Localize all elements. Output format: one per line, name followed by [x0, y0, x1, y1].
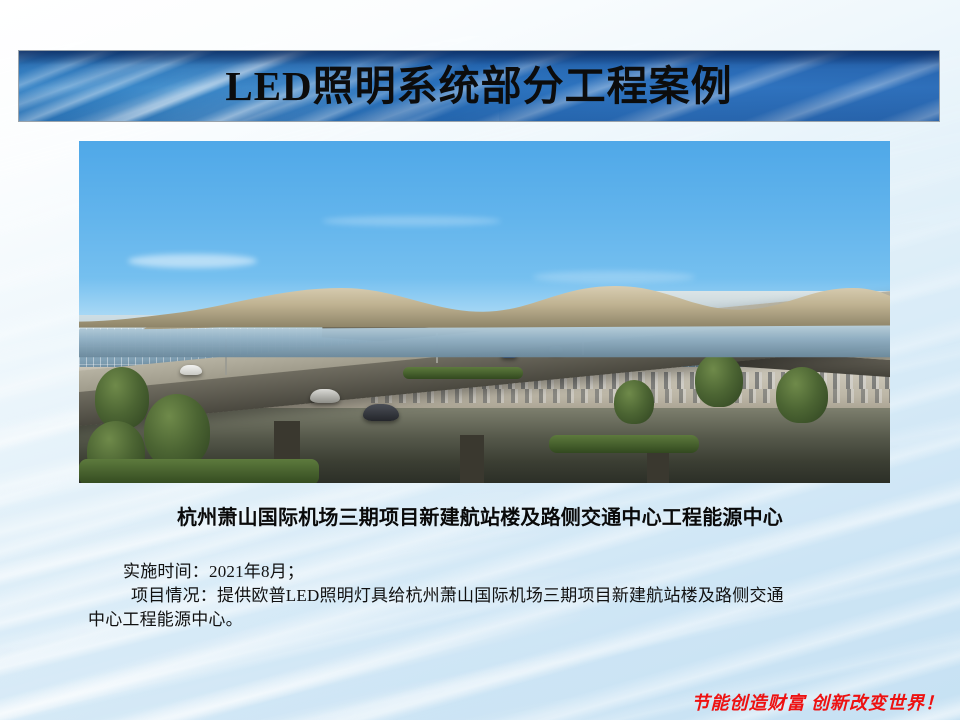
photo-tree — [695, 353, 743, 407]
description-line-implementation-time: 实施时间：2021年8月； — [88, 560, 888, 584]
photo-tree — [144, 394, 210, 468]
photo-hedge — [79, 459, 319, 483]
photo-viaduct-pillar — [647, 449, 669, 483]
photo-hedge — [403, 367, 523, 379]
photo-wavy-roof-icon — [79, 282, 890, 357]
description-line-project-overview-cont: 中心工程能源中心。 — [88, 608, 888, 632]
photo-cloud-wisp — [128, 254, 258, 268]
photo-car-white — [180, 365, 202, 375]
project-description: 实施时间：2021年8月； 项目情况：提供欧普LED照明灯具给杭州萧山国际机场三… — [88, 560, 888, 632]
title-banner: LED照明系统部分工程案例 — [18, 50, 940, 122]
photo-car-dark — [363, 404, 399, 421]
project-photo — [79, 141, 890, 483]
photo-tree — [95, 367, 149, 429]
footer-slogan: 节能创造财富 创新改变世界！ — [692, 689, 945, 715]
photo-hedge — [549, 435, 699, 453]
photo-car-silver — [310, 389, 340, 403]
photo-caption: 杭州萧山国际机场三期项目新建航站楼及路侧交通中心工程能源中心 — [0, 506, 960, 530]
photo-tree — [614, 380, 654, 424]
photo-viaduct-pillar — [460, 435, 484, 483]
slide-title: LED照明系统部分工程案例 — [225, 66, 732, 107]
slide-root: LED照明系统部分工程案例 — [0, 0, 960, 720]
photo-tree — [776, 367, 828, 423]
description-line-project-overview: 项目情况：提供欧普LED照明灯具给杭州萧山国际机场三期项目新建航站楼及路侧交通 — [88, 584, 888, 608]
